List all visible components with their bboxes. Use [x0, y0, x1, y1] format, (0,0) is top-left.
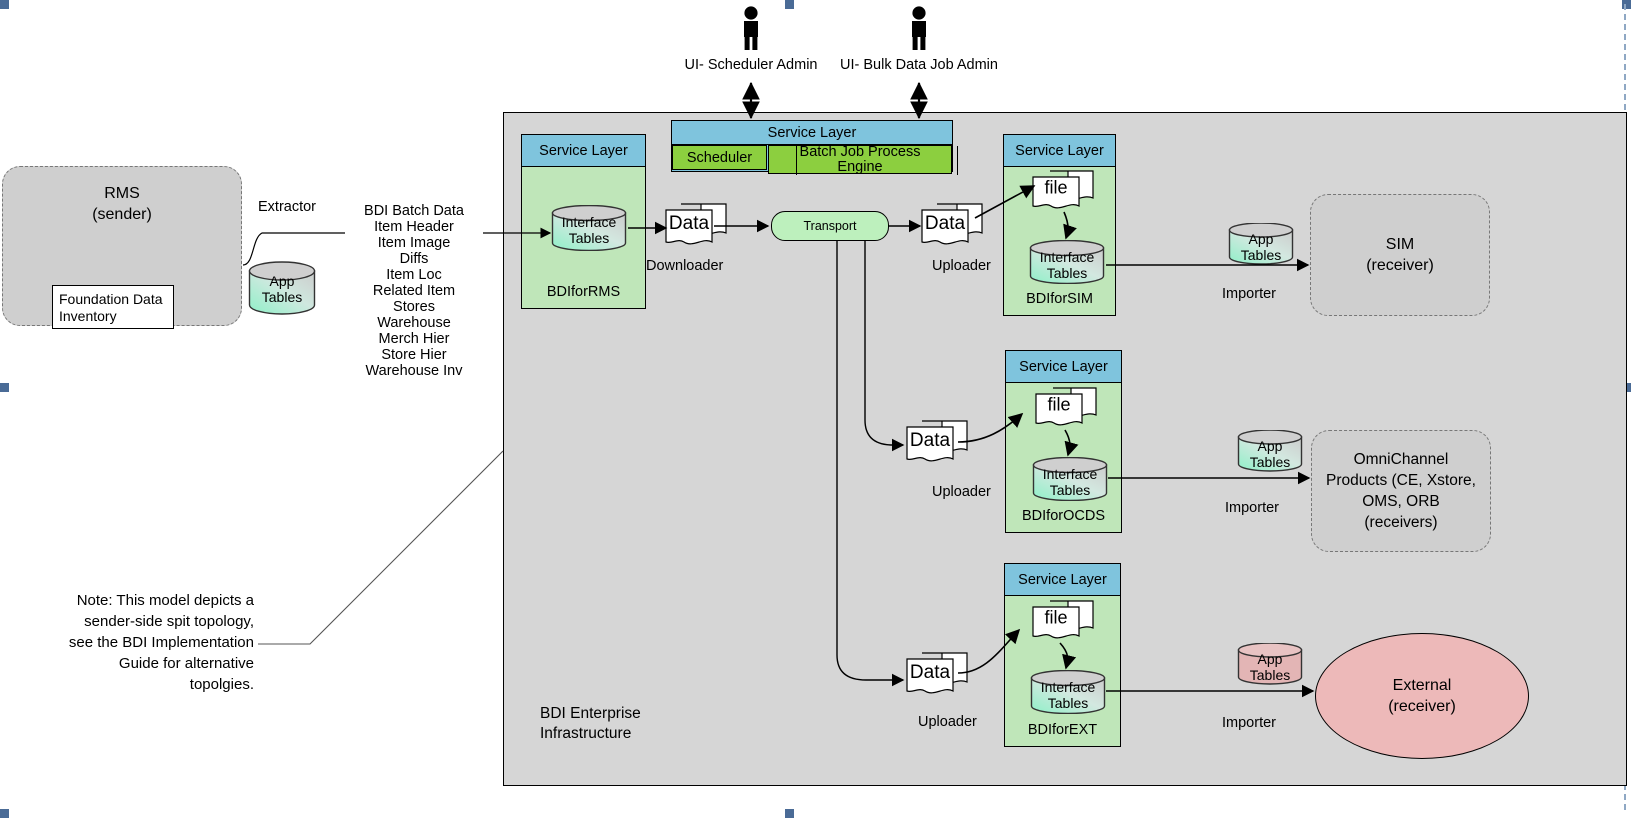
- app-name-bdiforocds: BDIforOCDS: [1006, 508, 1121, 524]
- data-document-uploader-sim: Data: [921, 203, 983, 251]
- file-document-label: file: [1032, 178, 1080, 199]
- container-label-line2: Infrastructure: [540, 726, 631, 742]
- data-document-downloader: Data: [665, 203, 727, 251]
- extractor-label: Extractor: [258, 199, 316, 215]
- receiver-sim-label: SIM(receiver): [1366, 234, 1434, 276]
- app-tables-cylinder-ext: AppTables: [1237, 643, 1303, 685]
- service-layer-bdiforocds: Service Layer: [1006, 351, 1121, 383]
- data-document-label: Data: [906, 662, 954, 684]
- scheduler-component[interactable]: Scheduler: [672, 145, 767, 170]
- interface-tables-label-rms: InterfaceTables: [551, 214, 627, 246]
- file-document-ocds: file: [1035, 387, 1097, 431]
- receiver-external-ellipse: External(receiver): [1315, 633, 1529, 759]
- app-name-bdiforext: BDIforEXT: [1005, 722, 1120, 738]
- service-layer-bdiforsim: Service Layer: [1004, 135, 1115, 167]
- bdi-batch-data-header: BDI Batch Data: [345, 203, 483, 219]
- receiver-omnichannel-label: OmniChannelProducts (CE, Xstore,OMS, ORB…: [1326, 449, 1476, 533]
- data-document-label: Data: [665, 213, 713, 235]
- file-document-label: file: [1032, 608, 1080, 629]
- note-line2: sender-side spit topology,: [32, 611, 254, 632]
- interface-tables-label-ocds: InterfaceTables: [1032, 466, 1108, 498]
- bdi-batch-data-list: Item Header Item Image Diffs Item Loc Re…: [345, 219, 483, 379]
- foundation-line2: Inventory: [59, 308, 117, 324]
- app-tables-label-ext: AppTables: [1237, 651, 1303, 683]
- app-box-bdiforext: Service Layer BDIforEXT: [1004, 563, 1121, 747]
- interface-tables-label-sim: InterfaceTables: [1029, 249, 1105, 281]
- batch-item: Warehouse: [345, 315, 483, 331]
- person-icon-bulk-data-job-admin: [906, 6, 932, 50]
- top-service-layer-block: Service Layer Scheduler Batch Job Proces…: [671, 120, 953, 172]
- app-box-bdiforocds: Service Layer BDIforOCDS: [1005, 350, 1122, 533]
- app-name-bdiforsim: BDIforSIM: [1004, 291, 1115, 307]
- interface-tables-cylinder-sim: InterfaceTables: [1029, 240, 1105, 284]
- interface-tables-label-ext: InterfaceTables: [1030, 679, 1106, 711]
- top-service-layer-label: Service Layer: [672, 121, 952, 145]
- service-layer-bdiforext: Service Layer: [1005, 564, 1120, 596]
- selection-handle-bottom-left[interactable]: [0, 809, 9, 818]
- importer-label-ext: Importer: [1222, 715, 1276, 731]
- batch-item: Stores: [345, 299, 483, 315]
- selection-handle-left-mid[interactable]: [0, 383, 9, 392]
- batch-job-process-engine-component[interactable]: Batch Job ProcessEngine: [768, 145, 952, 174]
- sender-app-tables-cylinder: AppTables: [248, 261, 316, 315]
- note-line5: topolgies.: [32, 674, 254, 695]
- batch-item: Item Loc: [345, 267, 483, 283]
- person-icon-scheduler-admin: [738, 6, 764, 50]
- uploader-label-sim: Uploader: [932, 258, 991, 274]
- note-text: Note: This model depicts a sender-side s…: [32, 590, 254, 695]
- receiver-omnichannel-box: OmniChannelProducts (CE, Xstore,OMS, ORB…: [1311, 430, 1491, 552]
- batch-item: Diffs: [345, 251, 483, 267]
- app-tables-cylinder-sim: AppTables: [1228, 223, 1294, 265]
- container-label-line1: BDI Enterprise: [540, 706, 641, 722]
- importer-label-sim: Importer: [1222, 286, 1276, 302]
- app-tables-label-ocds: AppTables: [1237, 438, 1303, 470]
- batch-item: Related Item: [345, 283, 483, 299]
- selection-handle-top-left[interactable]: [0, 0, 9, 9]
- foundation-line1: Foundation Data: [59, 291, 163, 307]
- app-tables-label-sim: AppTables: [1228, 231, 1294, 263]
- downloader-label: Downloader: [646, 258, 723, 274]
- interface-tables-cylinder-ocds: InterfaceTables: [1032, 457, 1108, 501]
- file-document-label: file: [1035, 395, 1083, 416]
- uploader-label-ocds: Uploader: [932, 484, 991, 500]
- note-line1: Note: This model depicts a: [32, 590, 254, 611]
- batch-item: Merch Hier: [345, 331, 483, 347]
- importer-label-ocds: Importer: [1225, 500, 1279, 516]
- file-document-sim: file: [1032, 170, 1094, 214]
- app-box-bdiforsim: Service Layer BDIforSIM: [1003, 134, 1116, 316]
- batch-item: Warehouse Inv: [345, 363, 483, 379]
- sender-app-tables-label: AppTables: [248, 273, 316, 305]
- app-tables-cylinder-ocds: AppTables: [1237, 430, 1303, 472]
- data-document-uploader-ocds: Data: [906, 420, 968, 468]
- foundation-data-inventory-box: Foundation Data Inventory: [52, 285, 174, 329]
- batch-item: Item Header: [345, 219, 483, 235]
- receiver-external-label: External(receiver): [1388, 675, 1456, 717]
- receiver-sim-box: SIM(receiver): [1310, 194, 1490, 316]
- app-name-bdiforrms: BDIforRMS: [522, 284, 645, 300]
- selection-handle-bottom-center[interactable]: [785, 809, 794, 818]
- note-line3: see the BDI Implementation: [32, 632, 254, 653]
- top-service-layer-components: Scheduler Batch Job ProcessEngine: [672, 145, 952, 172]
- uploader-label-ext: Uploader: [918, 714, 977, 730]
- actor-label-bulk-data-job-admin: UI- Bulk Data Job Admin: [819, 57, 1019, 73]
- data-document-label: Data: [921, 213, 969, 235]
- diagram-canvas: BDI Enterprise Infrastructure UI- Schedu…: [0, 0, 1631, 818]
- selection-handle-top-center[interactable]: [785, 0, 794, 9]
- interface-tables-cylinder-ext: InterfaceTables: [1030, 670, 1106, 714]
- batch-item: Item Image: [345, 235, 483, 251]
- file-document-ext: file: [1032, 600, 1094, 644]
- batch-engine-label: Batch Job ProcessEngine: [800, 145, 921, 175]
- interface-tables-cylinder-rms: InterfaceTables: [551, 205, 627, 251]
- batch-item: Store Hier: [345, 347, 483, 363]
- transport-node[interactable]: Transport: [771, 211, 889, 241]
- data-document-label: Data: [906, 430, 954, 452]
- data-document-uploader-ext: Data: [906, 652, 968, 700]
- service-layer-bdiforrms: Service Layer: [522, 135, 645, 167]
- sender-rms-label: RMS(sender): [3, 183, 241, 225]
- note-line4: Guide for alternative: [32, 653, 254, 674]
